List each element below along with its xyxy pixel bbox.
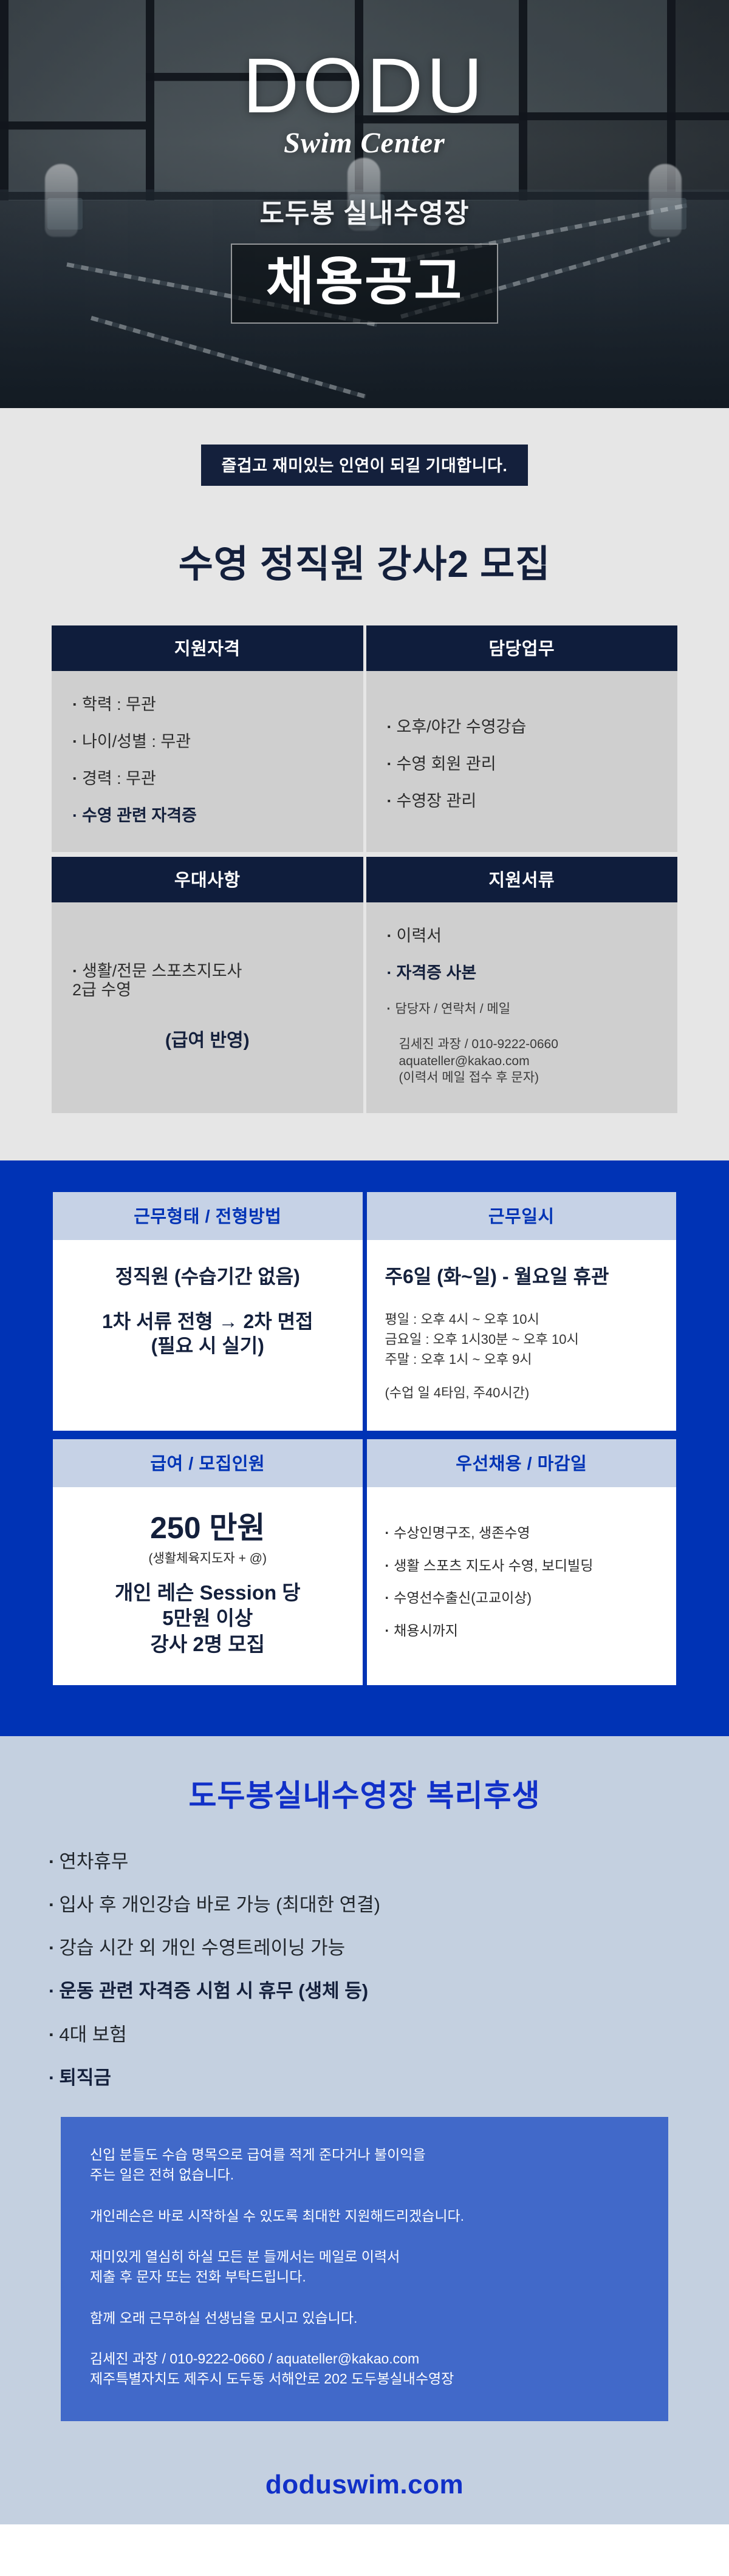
hero-banner: DODU Swim Center 도두봉 실내수영장 채용공고: [0, 0, 729, 408]
pay-amount: 250 만원: [71, 1511, 344, 1545]
page-footer: doduswim.com: [0, 2449, 729, 2524]
document-contact-label: 담당자 / 연락처 / 메일: [387, 1001, 657, 1018]
tagline-wrapper: 즐겁고 재미있는 인연이 되길 기대합니다.: [0, 445, 729, 486]
qualification-item-highlight: 수영 관련 자격증: [72, 806, 343, 825]
table-row: 250 만원 (생활체육지도자 + @) 개인 레슨 Session 당 5만원…: [51, 1487, 679, 1689]
work-type-line1: 정직원 (수습기간 없음): [71, 1264, 344, 1289]
page-title: 수영 정직원 강사2 모집: [0, 533, 729, 588]
work-conditions-section: 근무형태 / 전형방법 근무일시 정직원 (수습기간 없음) 1차 서류 전형 …: [0, 1160, 729, 1736]
cell-work-schedule: 주6일 (화~일) - 월요일 휴관 평일 : 오후 4시 ~ 오후 10시 금…: [364, 1240, 679, 1435]
cell-qualification: 학력 : 무관 나이/성별 : 무관 경력 : 무관 수영 관련 자격증: [50, 671, 365, 854]
header-priority: 우선채용 / 마감일: [364, 1435, 679, 1487]
table-row: 학력 : 무관 나이/성별 : 무관 경력 : 무관 수영 관련 자격증 오후/…: [50, 671, 679, 854]
duty-item: 오후/야간 수영강습: [387, 718, 657, 737]
work-conditions-table: 근무형태 / 전형방법 근무일시 정직원 (수습기간 없음) 1차 서류 전형 …: [49, 1192, 680, 1694]
recruitment-badge: 채용공고: [231, 244, 498, 324]
note-paragraph: 재미있게 열심히 하실 모든 분 들께서는 메일로 이력서 제출 후 문자 또는…: [90, 2247, 639, 2288]
cell-preference: 생활/전문 스포츠지도사 2급 수영 (급여 반영): [50, 902, 365, 1116]
note-contact-address: 김세진 과장 / 010-9222-0660 / aquateller@kaka…: [90, 2349, 639, 2390]
schedule-note: (수업 일 4타임, 주40시간): [385, 1383, 659, 1403]
facility-name: 도두봉 실내수영장: [0, 191, 729, 230]
benefit-item: 운동 관련 자격증 시험 시 휴무 (생체 등): [49, 1980, 680, 2002]
document-item-highlight: 자격증 사본: [387, 964, 657, 983]
cell-pay: 250 만원 (생활체육지도자 + @) 개인 레슨 Session 당 5만원…: [51, 1487, 365, 1689]
header-qualification: 지원자격: [50, 625, 365, 671]
benefits-title: 도두봉실내수영장 복리후생: [0, 1771, 729, 1815]
note-paragraph: 신입 분들도 수습 명목으로 급여를 적게 준다거나 불이익을 주는 일은 전혀…: [90, 2145, 639, 2186]
duty-item: 수영 회원 관리: [387, 755, 657, 774]
cell-duties: 오후/야간 수영강습 수영 회원 관리 수영장 관리: [364, 671, 679, 854]
document-item: 이력서: [387, 927, 657, 946]
note-paragraph: 개인레슨은 바로 시작하실 수 있도록 최대한 지원해드리겠습니다.: [90, 2206, 639, 2226]
schedule-detail: 평일 : 오후 4시 ~ 오후 10시 금요일 : 오후 1시30분 ~ 오후 …: [385, 1309, 659, 1369]
header-duties: 담당업무: [364, 625, 679, 671]
preference-item: 생활/전문 스포츠지도사 2급 수영: [72, 962, 343, 1000]
benefit-item: 연차휴무: [49, 1850, 680, 1873]
table-row: 우대사항 지원서류: [50, 854, 679, 902]
benefit-item: 강습 시간 외 개인 수영트레이닝 가능: [49, 1937, 680, 1959]
brand-logo-wordmark: DODU: [0, 47, 729, 125]
qualification-table: 지원자격 담당업무 학력 : 무관 나이/성별 : 무관 경력 : 무관 수영 …: [49, 625, 680, 1118]
table-row: 생활/전문 스포츠지도사 2급 수영 (급여 반영) 이력서 자격증 사본 담당…: [50, 902, 679, 1116]
pay-qualifier: (생활체육지도자 + @): [71, 1549, 344, 1567]
table-row: 근무형태 / 전형방법 근무일시: [51, 1192, 679, 1240]
qualification-item: 나이/성별 : 무관: [72, 732, 343, 751]
table-row: 지원자격 담당업무: [50, 625, 679, 671]
tagline-banner: 즐겁고 재미있는 인연이 되길 기대합니다.: [201, 445, 529, 486]
benefits-section: 도두봉실내수영장 복리후생 연차휴무 입사 후 개인강습 바로 가능 (최대한 …: [0, 1736, 729, 2449]
header-work-schedule: 근무일시: [364, 1192, 679, 1240]
priority-item: 생활 스포츠 지도사 수영, 보디빌딩: [385, 1558, 659, 1575]
priority-item: 채용시까지: [385, 1623, 659, 1640]
priority-item: 수영선수출신(고교이상): [385, 1590, 659, 1607]
recruitment-badge-label: 채용공고: [266, 254, 463, 309]
header-work-type: 근무형태 / 전형방법: [51, 1192, 365, 1240]
preference-note: (급여 반영): [72, 1025, 343, 1052]
priority-item: 수상인명구조, 생존수영: [385, 1525, 659, 1542]
benefit-item: 4대 보험: [49, 2023, 680, 2046]
qualification-item: 경력 : 무관: [72, 769, 343, 788]
note-paragraph: 함께 오래 근무하실 선생님을 모시고 있습니다.: [90, 2308, 639, 2328]
table-row: 정직원 (수습기간 없음) 1차 서류 전형 → 2차 면접 (필요 시 실기)…: [51, 1240, 679, 1435]
table-row: 급여 / 모집인원 우선채용 / 마감일: [51, 1435, 679, 1487]
duty-item: 수영장 관리: [387, 792, 657, 811]
brand-logo-tagline: Swim Center: [0, 126, 729, 160]
header-pay: 급여 / 모집인원: [51, 1435, 365, 1487]
header-preference: 우대사항: [50, 854, 365, 902]
qualification-section: 즐겁고 재미있는 인연이 되길 기대합니다. 수영 정직원 강사2 모집 지원자…: [0, 408, 729, 1160]
cell-documents: 이력서 자격증 사본 담당자 / 연락처 / 메일 김세진 과장 / 010-9…: [364, 902, 679, 1116]
schedule-headline: 주6일 (화~일) - 월요일 휴관: [385, 1264, 659, 1289]
pay-lesson-and-headcount: 개인 레슨 Session 당 5만원 이상 강사 2명 모집: [71, 1580, 344, 1657]
employer-note-box: 신입 분들도 수습 명목으로 급여를 적게 준다거나 불이익을 주는 일은 전혀…: [61, 2117, 668, 2421]
benefits-list: 연차휴무 입사 후 개인강습 바로 가능 (최대한 연결) 강습 시간 외 개인…: [49, 1850, 680, 2089]
benefit-item: 퇴직금: [49, 2067, 680, 2089]
website-link[interactable]: doduswim.com: [0, 2470, 729, 2500]
benefit-item: 입사 후 개인강습 바로 가능 (최대한 연결): [49, 1893, 680, 1916]
header-documents: 지원서류: [364, 854, 679, 902]
work-type-line2: 1차 서류 전형 → 2차 면접 (필요 시 실기): [71, 1309, 344, 1358]
document-contact-detail: 김세진 과장 / 010-9222-0660 aquateller@kakao.…: [387, 1036, 657, 1086]
qualification-item: 학력 : 무관: [72, 695, 343, 714]
cell-work-type: 정직원 (수습기간 없음) 1차 서류 전형 → 2차 면접 (필요 시 실기): [51, 1240, 365, 1435]
cell-priority: 수상인명구조, 생존수영 생활 스포츠 지도사 수영, 보디빌딩 수영선수출신(…: [364, 1487, 679, 1689]
job-posting-poster: DODU Swim Center 도두봉 실내수영장 채용공고 즐겁고 재미있는…: [0, 0, 729, 2576]
